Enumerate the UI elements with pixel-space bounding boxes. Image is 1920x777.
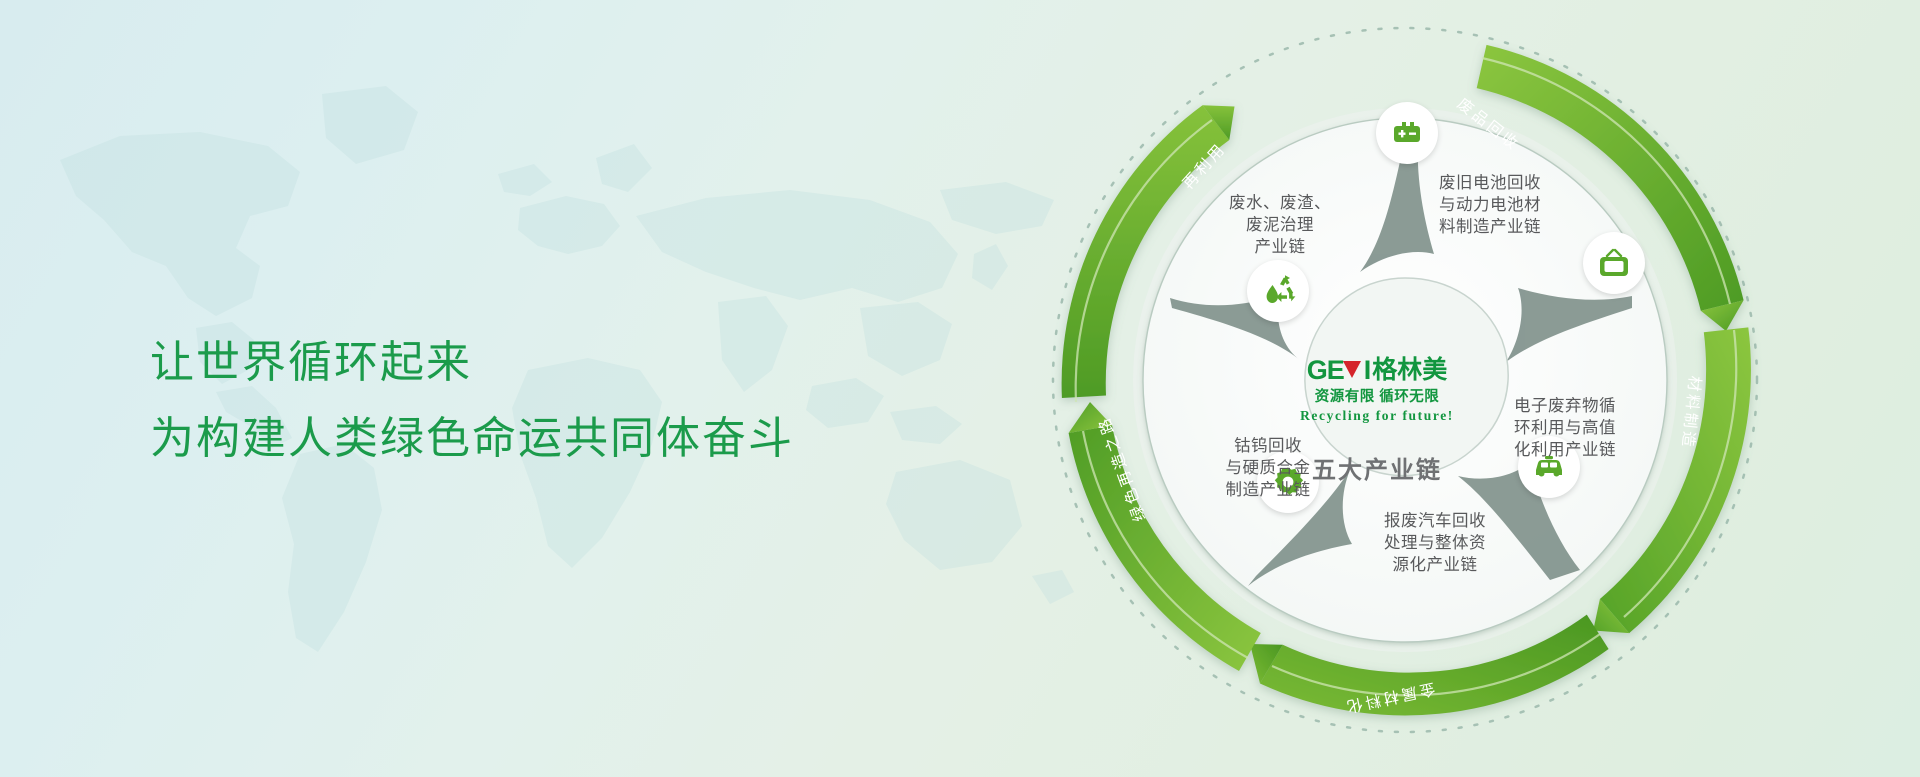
battery-icon-badge — [1376, 102, 1438, 164]
slogan-block: 让世界循环起来 为构建人类绿色命运共同体奋斗 — [150, 325, 794, 477]
gem-logo-wordmark: GEI 格林美 — [1292, 355, 1462, 385]
battery-icon — [1390, 116, 1424, 150]
slogan-line-2: 为构建人类绿色命运共同体奋斗 — [150, 401, 794, 477]
recycle-droplet-icon-badge — [1247, 260, 1309, 322]
gem-logo-chinese: 格林美 — [1372, 358, 1447, 383]
gem-tagline-cn: 资源有限 循环无限 — [1292, 390, 1462, 405]
segment-label-end-of-life-vehicle: 报废汽车回收 处理与整体资 源化产业链 — [1345, 510, 1525, 576]
diagram-center-title: 五大产业链 — [1292, 450, 1462, 485]
television-icon-badge — [1583, 232, 1645, 294]
slogan-line-1: 让世界循环起来 — [150, 325, 794, 401]
banner-root: 让世界循环起来 为构建人类绿色命运共同体奋斗 — [0, 0, 1920, 777]
segment-label-wastewater-treatment: 废水、废渣、 废泥治理 产业链 — [1190, 192, 1370, 258]
gem-logo-latin: GE — [1307, 357, 1344, 384]
television-icon — [1596, 245, 1632, 281]
gem-tagline-en: Recycling for future! — [1292, 409, 1462, 423]
gem-logo: GEI 格林美 资源有限 循环无限 Recycling for future! — [1292, 355, 1462, 422]
gem-logo-latin-tail: I — [1364, 357, 1371, 384]
segment-label-battery-recycling: 废旧电池回收 与动力电池材 料制造产业链 — [1400, 172, 1580, 238]
segment-label-e-waste-recycling: 电子废弃物循 环利用与高值 化利用产业链 — [1475, 395, 1655, 461]
recycle-droplet-icon — [1259, 272, 1297, 310]
five-industry-chain-diagram: 废水、废渣、 废泥治理 产业链 废旧电池回收 与动力电池材 料制造产业链 电子废… — [1020, 10, 1800, 770]
gem-logo-triangle-icon — [1343, 361, 1361, 378]
